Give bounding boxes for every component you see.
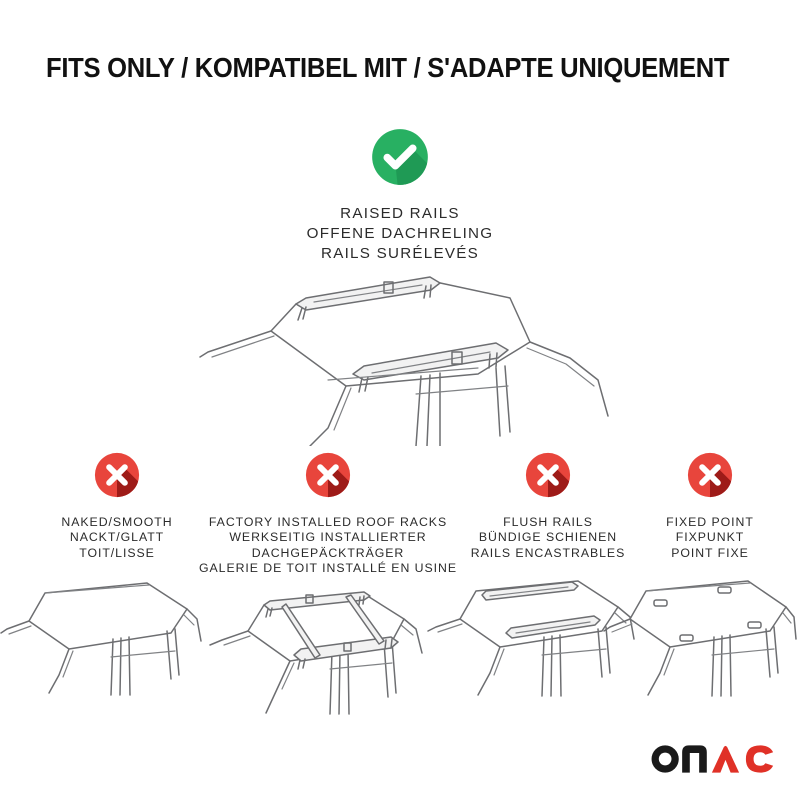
label-line-1: FIXED POINT xyxy=(580,515,800,530)
compatible-label-fr: RAILS SURÉLEVÉS xyxy=(0,244,800,264)
car-roof-raised-rails-illustration xyxy=(178,276,630,446)
incompatible-labels: FIXED POINT FIXPUNKT POINT FIXE xyxy=(580,515,800,561)
header: FITS ONLY / KOMPATIBEL MIT / S'ADAPTE UN… xyxy=(0,0,800,100)
x-circle-icon xyxy=(525,452,571,498)
label-line-2: FIXPUNKT xyxy=(580,530,800,545)
x-circle-icon xyxy=(305,452,351,498)
car-roof-fixed-point-illustration xyxy=(602,571,798,697)
logo-letter-c xyxy=(745,745,772,772)
logo-letter-a xyxy=(711,746,738,773)
badge-wrap xyxy=(580,452,800,503)
incompatible-section: NAKED/SMOOTH NACKT/GLATT TOIT/LISSE xyxy=(0,452,800,752)
incompatible-item-fixed-point: FIXED POINT FIXPUNKT POINT FIXE xyxy=(580,452,800,702)
car-roof-factory-rack-illustration xyxy=(206,587,442,715)
car-roof-naked-illustration xyxy=(0,571,205,696)
page-title: FITS ONLY / KOMPATIBEL MIT / S'ADAPTE UN… xyxy=(46,52,729,84)
compatible-section: RAISED RAILS OFFENE DACHRELING RAILS SUR… xyxy=(0,128,800,263)
logo-letter-m xyxy=(682,745,707,772)
label-line-3: POINT FIXE xyxy=(580,546,800,561)
compatible-label-en: RAISED RAILS xyxy=(0,204,800,224)
compatible-labels: RAISED RAILS OFFENE DACHRELING RAILS SUR… xyxy=(0,204,800,263)
x-circle-icon xyxy=(94,452,140,498)
omac-logo xyxy=(649,742,777,776)
check-circle-icon xyxy=(371,128,429,186)
compatible-label-de: OFFENE DACHRELING xyxy=(0,224,800,244)
x-circle-icon xyxy=(687,452,733,498)
